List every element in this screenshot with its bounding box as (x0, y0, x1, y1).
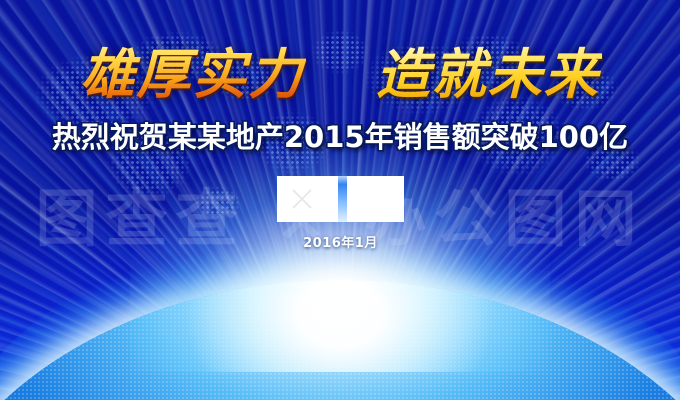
close-x-icon (291, 188, 313, 210)
date-label: 2016年1月 (277, 232, 404, 251)
headline-segment-2: 造就未来 (374, 43, 602, 106)
promotional-poster: 图查查 × 办公图网 雄厚实力 造就未来 热烈祝贺某某地产2015年销售额突破1… (0, 0, 680, 400)
subtitle-announcement: 热烈祝贺某某地产2015年销售额突破100亿 (0, 120, 680, 155)
page-title: 雄厚实力 造就未来 (0, 48, 680, 102)
ray-overlay-through-logo-box (338, 172, 347, 228)
headline-segment-1: 雄厚实力 (78, 43, 306, 106)
